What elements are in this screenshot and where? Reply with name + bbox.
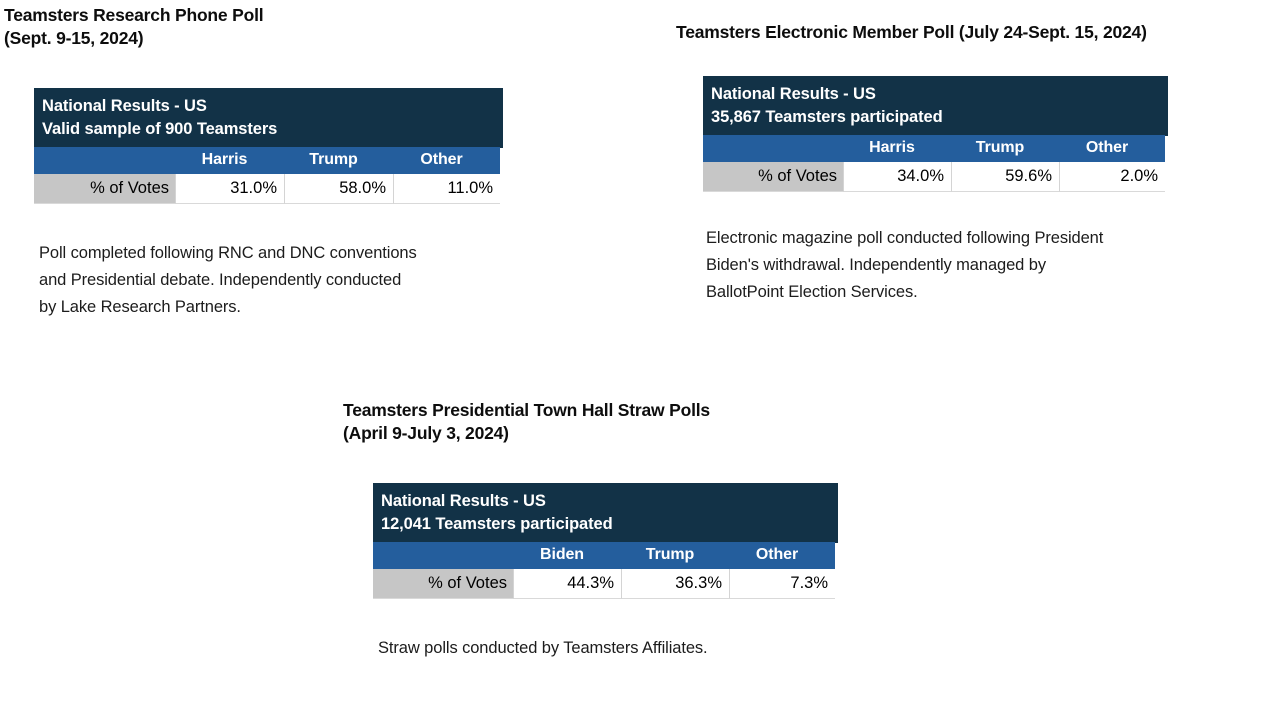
column-header-1: Trump bbox=[284, 147, 393, 174]
table-scope-label: National Results - US bbox=[381, 490, 835, 513]
corner-cell bbox=[34, 147, 175, 174]
poll-panel-electronic-member: Teamsters Electronic Member Poll (July 2… bbox=[703, 21, 1263, 305]
results-table-wrapper: National Results - US 35,867 Teamsters p… bbox=[703, 76, 1165, 192]
poll-caption: Electronic magazine poll conducted follo… bbox=[706, 225, 1263, 305]
table-header-block: National Results - US Valid sample of 90… bbox=[34, 88, 500, 147]
column-header-1: Trump bbox=[621, 542, 729, 569]
table-sample-label: 35,867 Teamsters participated bbox=[711, 106, 1165, 129]
table-sample-label: 12,041 Teamsters participated bbox=[381, 513, 835, 536]
value-cell-0: 44.3% bbox=[513, 569, 621, 599]
results-table: Harris Trump Other % of Votes 34.0% 59.6… bbox=[703, 135, 1165, 192]
row-label: % of Votes bbox=[373, 569, 513, 599]
value-cell-2: 2.0% bbox=[1059, 162, 1165, 192]
column-header-2: Other bbox=[729, 542, 835, 569]
table-scope-label: National Results - US bbox=[711, 83, 1165, 106]
poll-title: Teamsters Presidential Town Hall Straw P… bbox=[343, 399, 893, 445]
table-scope-label: National Results - US bbox=[42, 95, 500, 118]
column-header-0: Harris bbox=[175, 147, 284, 174]
header-overhang bbox=[1165, 76, 1168, 136]
header-overhang bbox=[500, 88, 503, 148]
value-cell-2: 11.0% bbox=[393, 174, 500, 204]
value-cell-1: 36.3% bbox=[621, 569, 729, 599]
poll-title: Teamsters Research Phone Poll (Sept. 9-1… bbox=[4, 4, 554, 50]
value-cell-0: 34.0% bbox=[843, 162, 951, 192]
poll-caption: Poll completed following RNC and DNC con… bbox=[39, 240, 554, 320]
row-label: % of Votes bbox=[703, 162, 843, 192]
column-header-0: Harris bbox=[843, 135, 951, 162]
value-cell-0: 31.0% bbox=[175, 174, 284, 204]
column-header-2: Other bbox=[393, 147, 500, 174]
table-column-header-row: Biden Trump Other bbox=[373, 542, 835, 569]
value-cell-2: 7.3% bbox=[729, 569, 835, 599]
row-label: % of Votes bbox=[34, 174, 175, 204]
poll-title: Teamsters Electronic Member Poll (July 2… bbox=[676, 21, 1263, 44]
column-header-1: Trump bbox=[951, 135, 1059, 162]
results-table-wrapper: National Results - US Valid sample of 90… bbox=[34, 88, 500, 204]
value-cell-1: 58.0% bbox=[284, 174, 393, 204]
results-table: Harris Trump Other % of Votes 31.0% 58.0… bbox=[34, 147, 500, 204]
table-column-header-row: Harris Trump Other bbox=[34, 147, 500, 174]
column-header-0: Biden bbox=[513, 542, 621, 569]
table-sample-label: Valid sample of 900 Teamsters bbox=[42, 118, 500, 141]
poll-panel-town-hall-straw: Teamsters Presidential Town Hall Straw P… bbox=[373, 399, 893, 662]
corner-cell bbox=[703, 135, 843, 162]
table-header-block: National Results - US 35,867 Teamsters p… bbox=[703, 76, 1165, 135]
table-row: % of Votes 44.3% 36.3% 7.3% bbox=[373, 569, 835, 599]
column-header-2: Other bbox=[1059, 135, 1165, 162]
table-row: % of Votes 31.0% 58.0% 11.0% bbox=[34, 174, 500, 204]
table-row: % of Votes 34.0% 59.6% 2.0% bbox=[703, 162, 1165, 192]
value-cell-1: 59.6% bbox=[951, 162, 1059, 192]
corner-cell bbox=[373, 542, 513, 569]
poll-panel-research-phone: Teamsters Research Phone Poll (Sept. 9-1… bbox=[34, 4, 554, 320]
results-table: Biden Trump Other % of Votes 44.3% 36.3%… bbox=[373, 542, 835, 599]
header-overhang bbox=[835, 483, 838, 543]
poll-caption: Straw polls conducted by Teamsters Affil… bbox=[378, 635, 893, 662]
table-column-header-row: Harris Trump Other bbox=[703, 135, 1165, 162]
results-table-wrapper: National Results - US 12,041 Teamsters p… bbox=[373, 483, 835, 599]
table-header-block: National Results - US 12,041 Teamsters p… bbox=[373, 483, 835, 542]
